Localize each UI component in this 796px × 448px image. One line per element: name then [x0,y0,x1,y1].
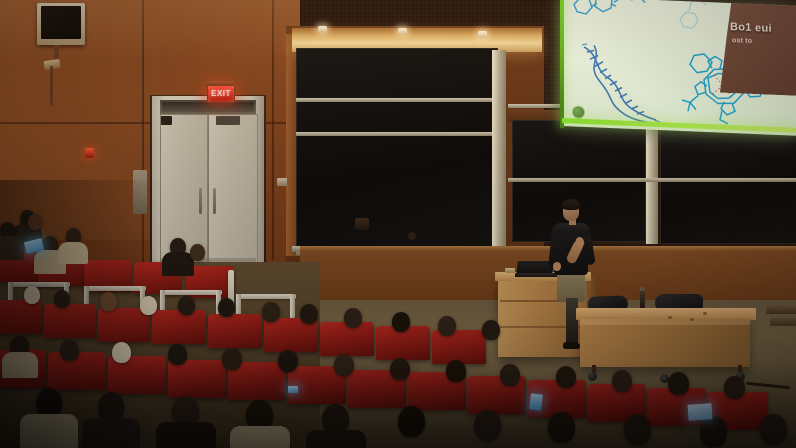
aisle-railing [160,290,222,295]
presenter-hair [562,199,580,210]
audience-head-cap [112,342,131,363]
wall-fixture [277,178,287,186]
exit-sign: EXIT [207,85,235,103]
audience-head [278,350,298,372]
aisle-railing [8,282,70,287]
audience-head [474,410,501,441]
audience-head [624,414,651,445]
blackboard-rail [296,132,496,136]
audience-head [446,360,466,382]
lecture-hall-photo: Bo1 eui ost to EXIT [0,0,796,448]
blackboard-rail [508,178,796,182]
wainscot-cap [300,246,796,251]
projection-screen: Bo1 eui ost to [562,0,796,136]
presenter-shoe [563,342,580,349]
phone-screen-icon [529,393,543,410]
audience-head [262,302,280,322]
door-sensor-icon [161,116,172,125]
seatback [208,314,262,348]
presenter-hand [553,262,561,271]
audience-head [334,354,354,376]
blackboard-center [296,48,498,250]
audience-head [60,340,79,361]
valance-light-icon [478,31,487,38]
audience-head [54,290,70,308]
audience-head [438,316,456,336]
audience-shoulders [20,414,78,448]
audience-shoulders [306,430,366,448]
audience-head [190,244,205,261]
audience-head [724,376,745,399]
fire-alarm-strobe-icon [85,148,94,158]
seatback [44,304,96,338]
wall-speaker-icon [355,218,369,230]
faint-ring-structure-icon [670,0,716,36]
audience-head [392,312,410,332]
audience-shoulders [162,252,194,276]
exit-sign-label: EXIT [211,90,231,98]
dna-double-helix-icon [578,43,664,125]
railing-post [290,294,295,320]
slide-title-text: Bo1 eui [730,21,796,36]
wall-access-panel [133,170,147,214]
blackboard-frame-left [286,34,296,256]
audience-head [500,364,520,386]
slide-subtitle-text: ost to [732,37,796,47]
audience-head [100,292,117,311]
aisle-railing [84,286,146,291]
water-bottle-icon [640,290,645,310]
audience-head [28,214,42,230]
audience-shoulders [2,352,38,378]
audience-head [668,372,689,395]
audience-head [760,414,787,445]
seatback [0,300,42,334]
stair-step [766,306,796,314]
door-handle[interactable] [213,188,216,214]
seatback [432,330,486,364]
aisle-railing [236,294,296,299]
bottle-cap [640,287,645,291]
audience-head-cap [140,296,157,315]
presenter-leg [566,298,578,346]
audience-head [344,308,362,328]
slide-title-panel: Bo1 eui ost to [720,0,796,96]
audience-head [556,366,576,388]
seatback [48,352,106,390]
side-table-apron [580,319,750,325]
audience-head [612,370,632,392]
audience-head [222,348,242,370]
valance-light-icon [318,26,327,33]
audience-head [482,320,500,340]
small-ring-structure-icon [568,0,648,22]
blackboard-divider-post [492,50,506,250]
audience-shoulders [58,242,88,264]
audience-head [398,406,425,437]
lectern-papers [505,268,515,273]
door-handle[interactable] [199,188,202,214]
laptop-base [515,273,557,277]
table-caster-icon [588,372,597,381]
screen-left-edge [560,0,564,128]
audience-head [390,358,410,380]
laptop-screen-icon [687,403,712,421]
audience-head [218,298,235,317]
audience-shoulders [230,426,290,448]
blackboard-rail [296,98,496,102]
audience-head [700,416,727,447]
door-closer [216,116,240,125]
table-grommet [703,312,707,315]
audience-head-cap [24,286,40,304]
table-grommet [690,318,694,321]
seatback [320,322,374,356]
conduit [50,66,53,106]
audience-shoulders [0,236,24,260]
side-table-body [580,319,750,367]
phone-screen-icon [288,386,298,393]
valance-light-icon [398,28,407,35]
audience-head [168,344,187,365]
audience-shoulders [156,422,216,448]
wall-monitor-icon [41,6,81,39]
audience-head [300,304,318,324]
audience-head [548,412,575,443]
blackboard-right-2 [660,120,796,244]
seatback [168,360,226,398]
seatback [152,310,206,344]
audience-shoulders [82,418,140,448]
audience-head [178,296,195,315]
wall-outlet-icon [408,232,416,240]
stair-step [770,318,796,326]
table-grommet [668,316,672,319]
slide-logo-badge-icon [572,105,585,119]
